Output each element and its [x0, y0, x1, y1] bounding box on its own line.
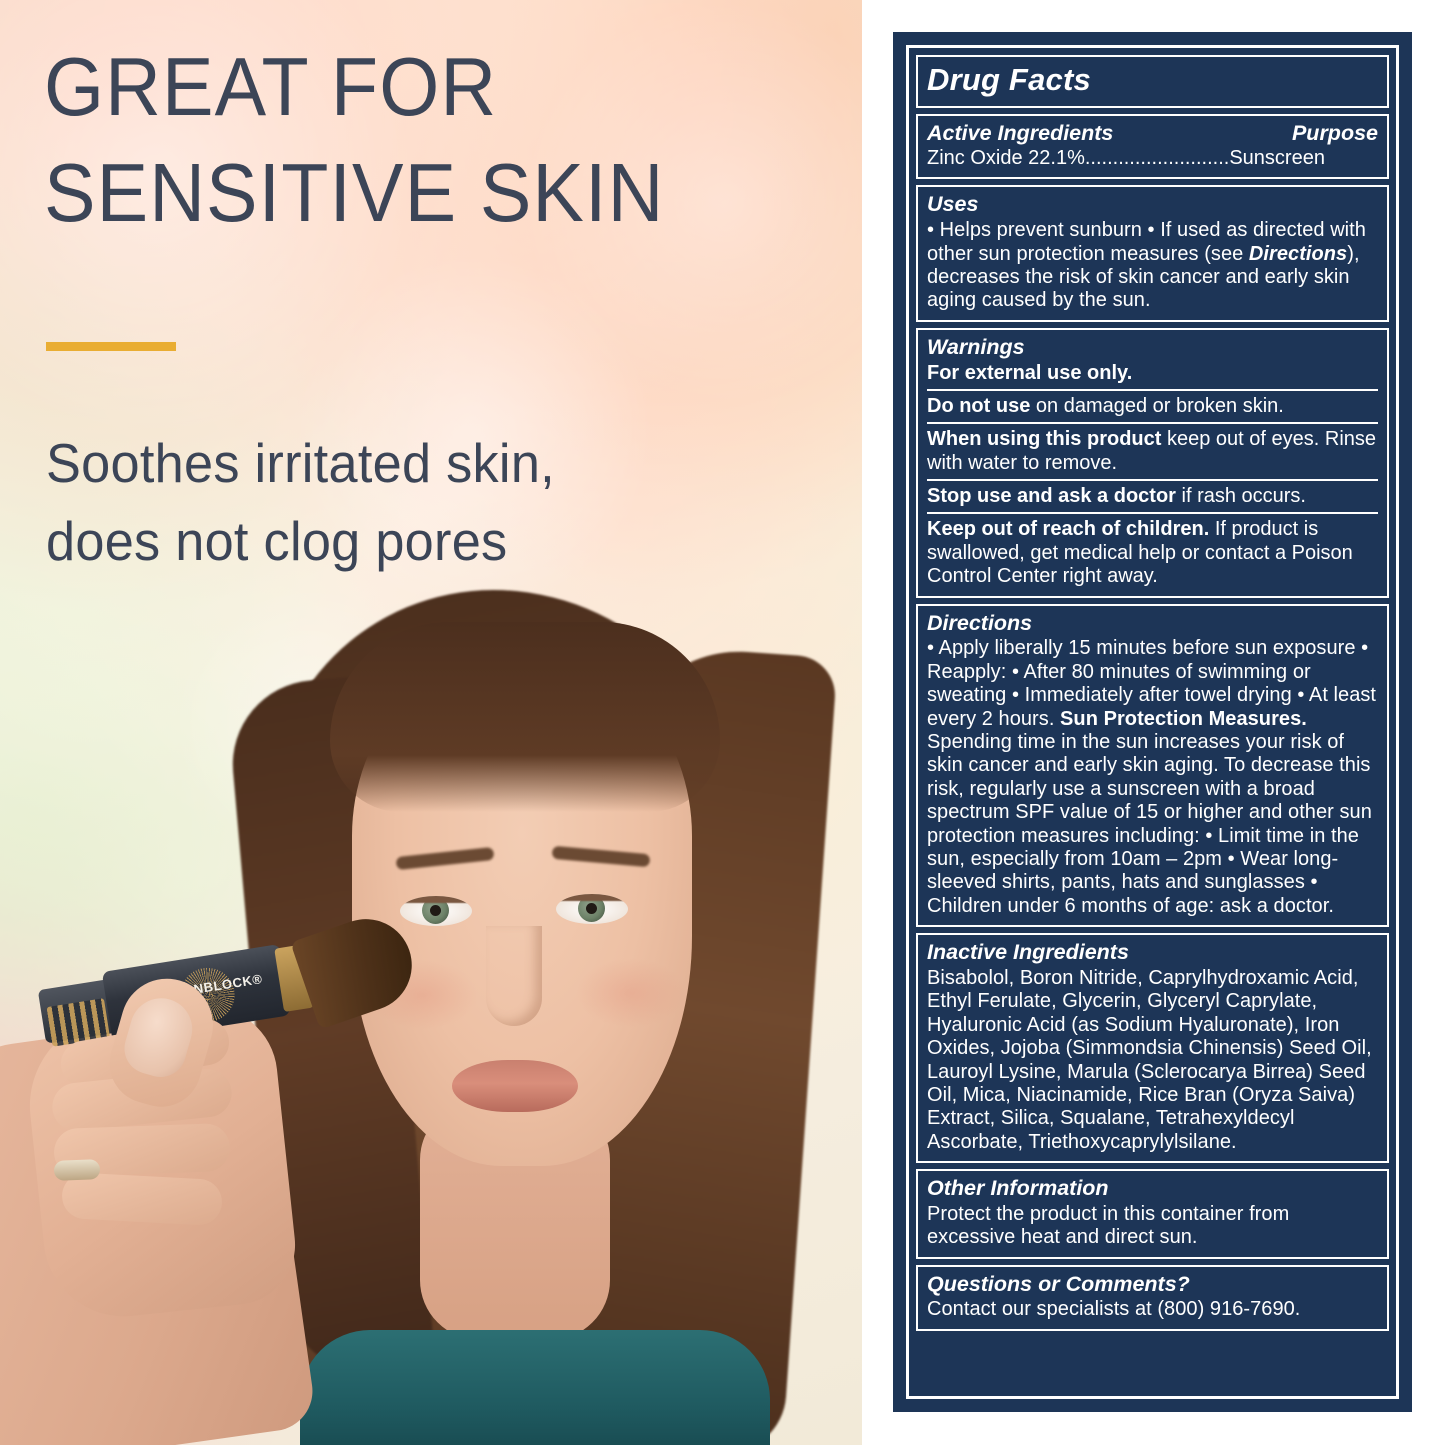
warning-divider-3 [927, 479, 1378, 481]
purpose-label: Purpose [1292, 121, 1378, 147]
drug-facts-title-box: Drug Facts [916, 55, 1389, 108]
warning-item-2-bold: When using this product [927, 428, 1161, 450]
eye-left [400, 896, 472, 926]
warning-item-3-bold: Stop use and ask a doctor [927, 485, 1176, 507]
clothing-top [300, 1330, 770, 1445]
uses-body: • Helps prevent sunburn • If used as dir… [927, 219, 1378, 313]
lips [452, 1060, 578, 1112]
warning-divider-1 [927, 389, 1378, 391]
page-title: GREAT FOR SENSITIVE SKIN [44, 34, 779, 246]
headline-line-2: SENSITIVE SKIN [44, 140, 779, 246]
inactive-ingredients-box: Inactive Ingredients Bisabolol, Boron Ni… [916, 933, 1389, 1163]
directions-body-b: Spending time in the sun increases your … [927, 731, 1372, 917]
warning-item-1: Do not use on damaged or broken skin. [927, 395, 1378, 418]
active-ingredients-label: Active Ingredients [927, 121, 1113, 147]
ad-page: GREAT FOR SENSITIVE SKIN Soothes irritat… [0, 0, 1445, 1445]
eyelid-right [556, 894, 628, 901]
warning-item-1-rest: on damaged or broken skin. [1030, 395, 1284, 417]
directions-box: Directions • Apply liberally 15 minutes … [916, 604, 1389, 927]
uses-header: Uses [927, 192, 1378, 218]
cheek-right [576, 958, 686, 1028]
other-information-body: Protect the product in this container fr… [927, 1203, 1378, 1250]
warning-item-3-rest: if rash occurs. [1176, 485, 1306, 507]
directions-header: Directions [927, 611, 1378, 637]
gold-divider [46, 342, 176, 351]
uses-directions-ref: Directions [1249, 243, 1347, 265]
directions-body: • Apply liberally 15 minutes before sun … [927, 637, 1378, 918]
drug-facts-inner-border: Drug Facts Active Ingredients Purpose Zi… [906, 45, 1399, 1399]
warning-item-4: Keep out of reach of children. If produc… [927, 518, 1378, 588]
warning-item-0: For external use only. [927, 362, 1378, 385]
headline-line-1: GREAT FOR [44, 34, 779, 140]
uses-box: Uses • Helps prevent sunburn • If used a… [916, 185, 1389, 321]
warning-item-1-bold: Do not use [927, 395, 1030, 417]
hair-fringe [330, 622, 720, 812]
warning-item-2: When using this product keep out of eyes… [927, 428, 1378, 475]
other-information-header: Other Information [927, 1176, 1378, 1202]
drug-facts-panel: Drug Facts Active Ingredients Purpose Zi… [893, 32, 1412, 1412]
ring [54, 1159, 101, 1181]
sun-protection-measures-label: Sun Protection Measures. [1060, 708, 1307, 730]
warnings-box: Warnings For external use only. Do not u… [916, 328, 1389, 598]
model-photo: BRUSHONBLOCK® [0, 560, 862, 1445]
nose [486, 926, 542, 1026]
warning-divider-4 [927, 512, 1378, 514]
warnings-header: Warnings [927, 335, 1378, 361]
active-ingredients-box: Active Ingredients Purpose Zinc Oxide 22… [916, 114, 1389, 180]
inactive-ingredients-body: Bisabolol, Boron Nitride, Caprylhydroxam… [927, 967, 1378, 1154]
inactive-ingredients-header: Inactive Ingredients [927, 940, 1378, 966]
warning-divider-2 [927, 422, 1378, 424]
finger-4 [61, 1172, 223, 1226]
pupil-right [586, 903, 597, 914]
active-ingredients-header-row: Active Ingredients Purpose [927, 121, 1378, 147]
questions-body: Contact our specialists at (800) 916-769… [927, 1298, 1378, 1321]
warning-item-3: Stop use and ask a doctor if rash occurs… [927, 485, 1378, 508]
promo-panel: GREAT FOR SENSITIVE SKIN Soothes irritat… [0, 0, 862, 1445]
drug-facts-title: Drug Facts [927, 62, 1378, 99]
eyelid-left [400, 896, 472, 903]
active-ingredient-line: Zinc Oxide 22.1%........................… [927, 146, 1378, 170]
pupil-left [430, 905, 441, 916]
warning-item-0-bold: For external use only. [927, 362, 1132, 384]
questions-box: Questions or Comments? Contact our speci… [916, 1265, 1389, 1331]
other-information-box: Other Information Protect the product in… [916, 1169, 1389, 1259]
warning-item-4-bold: Keep out of reach of children. [927, 518, 1209, 540]
questions-header: Questions or Comments? [927, 1272, 1378, 1298]
subhead-line-1: Soothes irritated skin, [46, 424, 749, 502]
page-subtitle: Soothes irritated skin, does not clog po… [46, 424, 749, 580]
eye-right [556, 894, 628, 924]
